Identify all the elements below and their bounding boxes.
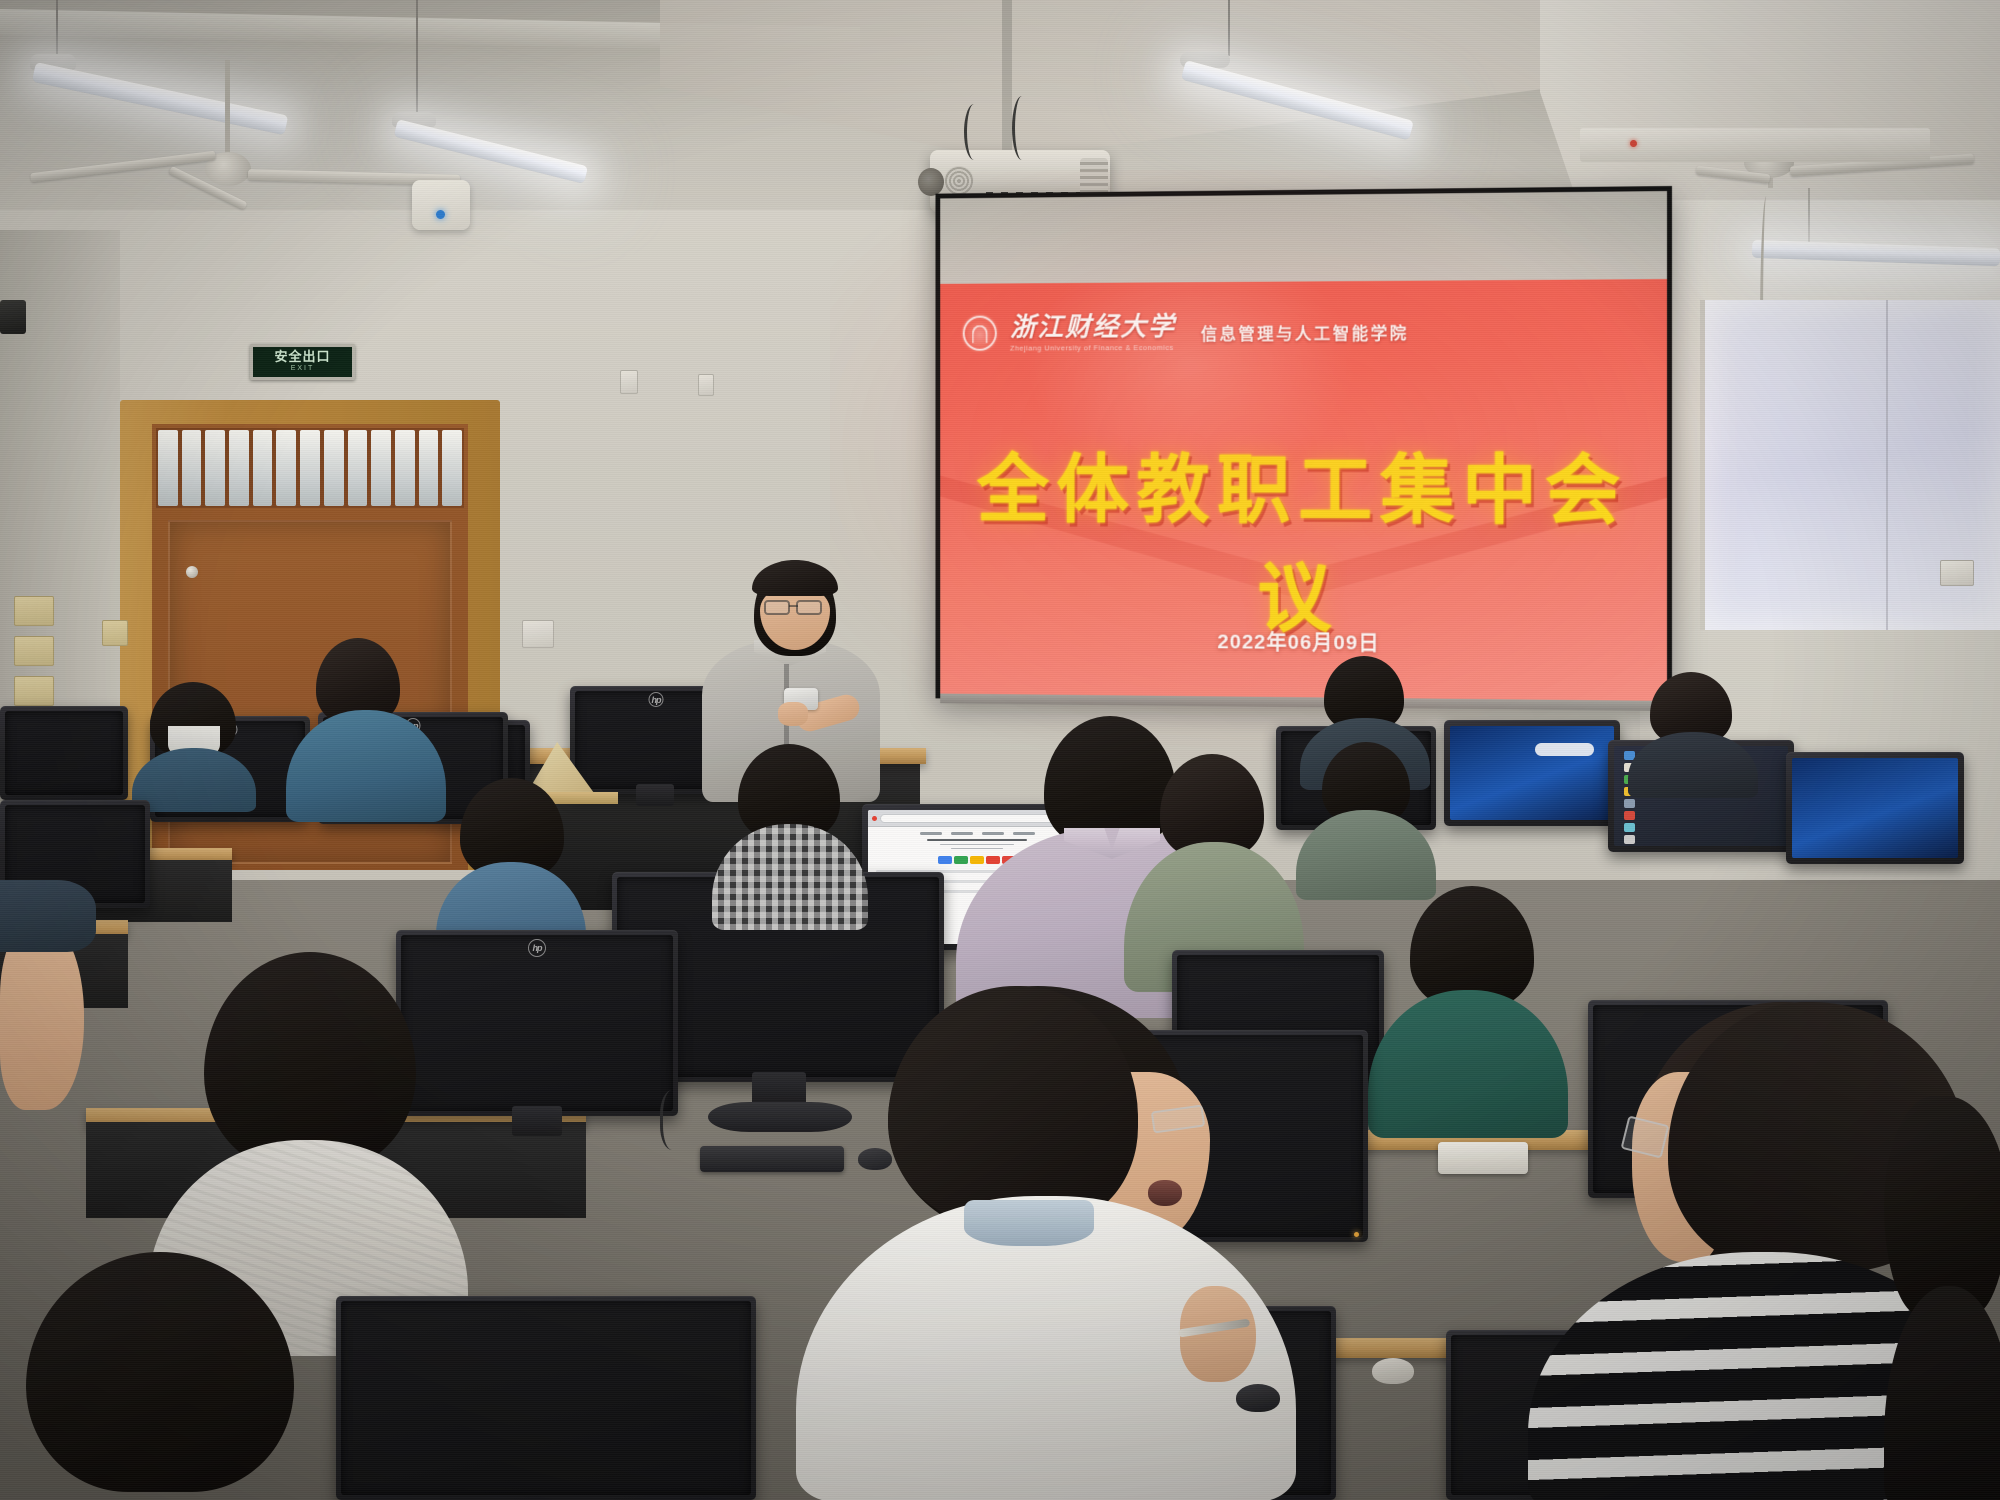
monitor-screen-blue[interactable] bbox=[1450, 726, 1614, 820]
wifi-ap-led-icon bbox=[436, 210, 445, 219]
light-switch-plate[interactable] bbox=[1940, 560, 1974, 586]
door-louver bbox=[182, 430, 202, 506]
wall-socket bbox=[14, 596, 54, 626]
monitor-power-led-icon bbox=[1354, 1232, 1359, 1237]
attendee-sleeve bbox=[0, 880, 96, 952]
slide-date: 2022年06月09日 bbox=[940, 624, 1667, 659]
door-louver bbox=[324, 430, 344, 506]
login-prompt-pill bbox=[1535, 743, 1594, 756]
door-louver bbox=[348, 430, 368, 506]
attendee-white-shirt bbox=[796, 986, 1296, 1500]
attendee-blue-shirt bbox=[286, 638, 446, 818]
monitor bbox=[336, 1296, 756, 1500]
presenter-glasses-bridge bbox=[789, 605, 798, 607]
door-louver bbox=[300, 430, 320, 506]
door-louver bbox=[371, 430, 391, 506]
attendee-torso bbox=[132, 748, 256, 812]
exit-sign-label-en: EXIT bbox=[291, 363, 315, 374]
wall-data-plate bbox=[698, 374, 714, 396]
mouse[interactable] bbox=[1236, 1384, 1280, 1412]
university-name-cn: 浙江财经大学 bbox=[1010, 313, 1176, 340]
exit-sign: 安全出口 EXIT bbox=[250, 344, 355, 380]
door-louver bbox=[419, 430, 439, 506]
wall-socket bbox=[102, 620, 128, 646]
attendee-torso bbox=[712, 824, 868, 930]
attendee-right-edge bbox=[1884, 1096, 2000, 1500]
attendee-left-edge bbox=[0, 880, 110, 1140]
attendee-torso bbox=[1628, 732, 1758, 798]
attendee-masked bbox=[132, 682, 256, 812]
door-louver bbox=[442, 430, 462, 506]
speaker-box bbox=[1438, 1142, 1528, 1174]
monitor-stand bbox=[636, 784, 674, 806]
attendee-back-right-c bbox=[1296, 742, 1436, 892]
screen-blank-area bbox=[940, 191, 1667, 284]
whiteboard-seam bbox=[1886, 300, 1888, 630]
door-louver bbox=[205, 430, 225, 506]
attendee-checked-shirt bbox=[712, 744, 868, 924]
hp-logo-icon: hp bbox=[649, 692, 664, 707]
university-name-en: Zhejiang University of Finance & Economi… bbox=[1010, 344, 1176, 352]
monitor-back-panel bbox=[341, 1301, 751, 1495]
attendee-hair-overlay bbox=[888, 986, 1138, 1226]
door-louver bbox=[229, 430, 249, 506]
projector-vent-grille bbox=[944, 166, 974, 196]
presenter-hair-front bbox=[752, 560, 838, 596]
monitor-with-blue-screen bbox=[1444, 720, 1620, 826]
light-hanger-wire bbox=[416, 0, 418, 118]
wifi-access-point bbox=[412, 180, 470, 230]
door-louver bbox=[158, 430, 178, 506]
university-seal-icon bbox=[963, 316, 997, 351]
projector-lens bbox=[918, 168, 944, 196]
projection-screen: 浙江财经大学 Zhejiang University of Finance & … bbox=[936, 186, 1672, 706]
monitor-screen-blue[interactable] bbox=[1792, 758, 1958, 858]
slide-title: 全体教职工集中会议 bbox=[940, 429, 1667, 649]
door-louver-panel bbox=[156, 428, 464, 508]
presentation-slide: 浙江财经大学 Zhejiang University of Finance & … bbox=[940, 279, 1667, 701]
projector-cable bbox=[964, 104, 984, 160]
college-name: 信息管理与人工智能学院 bbox=[1201, 319, 1409, 345]
door-knob[interactable] bbox=[186, 566, 198, 578]
slide-header: 浙江财经大学 Zhejiang University of Finance & … bbox=[963, 307, 1643, 355]
attendee-head bbox=[26, 1252, 294, 1492]
attendee-bottom-left bbox=[0, 1252, 330, 1500]
light-hanger-wire bbox=[1228, 0, 1230, 56]
attendee-torso bbox=[1884, 1286, 2000, 1500]
light-hanger-wire bbox=[56, 0, 58, 58]
exit-sign-label-cn: 安全出口 bbox=[274, 350, 330, 363]
door-louver bbox=[253, 430, 273, 506]
desktop-icon[interactable] bbox=[1624, 799, 1635, 808]
desk-cable bbox=[660, 1090, 690, 1150]
wall-socket bbox=[14, 676, 54, 706]
door-louver bbox=[395, 430, 415, 506]
desktop-icon[interactable] bbox=[1624, 835, 1635, 844]
hp-logo-icon: hp bbox=[528, 939, 546, 957]
door-louver bbox=[276, 430, 296, 506]
desktop-icon[interactable] bbox=[1624, 811, 1635, 820]
wall-data-plate bbox=[522, 620, 554, 648]
color-chip bbox=[938, 856, 952, 864]
attendee-collar bbox=[964, 1200, 1094, 1246]
university-name-block: 浙江财经大学 Zhejiang University of Finance & … bbox=[1010, 313, 1176, 351]
presenter-glasses bbox=[764, 600, 790, 615]
nav-link-placeholder[interactable] bbox=[920, 832, 942, 835]
photo-classroom-meeting: 安全出口 EXIT bbox=[0, 0, 2000, 1500]
attendee-head bbox=[204, 952, 416, 1170]
monitor bbox=[1786, 752, 1964, 864]
attendee-back-right-b bbox=[1628, 672, 1758, 792]
projector-ceiling-mount bbox=[1002, 0, 1012, 150]
wall-data-plate bbox=[620, 370, 638, 394]
desktop-icon[interactable] bbox=[1624, 823, 1635, 832]
wall-socket bbox=[14, 636, 54, 666]
attendee-torso bbox=[286, 710, 446, 822]
mouse[interactable] bbox=[1372, 1358, 1414, 1384]
presenter-glasses bbox=[796, 600, 822, 615]
wall-speaker bbox=[0, 300, 26, 334]
monitor-back-panel bbox=[5, 711, 123, 795]
projector-cable bbox=[1012, 96, 1032, 160]
screen-housing-indicator-icon bbox=[1630, 140, 1637, 147]
fan-downrod bbox=[225, 60, 230, 158]
presenter-hand bbox=[778, 702, 808, 726]
attendee-head bbox=[1884, 1096, 2000, 1316]
browser-favicon-icon bbox=[872, 816, 877, 821]
attendee-open-mouth bbox=[1148, 1180, 1182, 1206]
monitor bbox=[0, 706, 128, 800]
monitor-stand bbox=[512, 1106, 562, 1136]
